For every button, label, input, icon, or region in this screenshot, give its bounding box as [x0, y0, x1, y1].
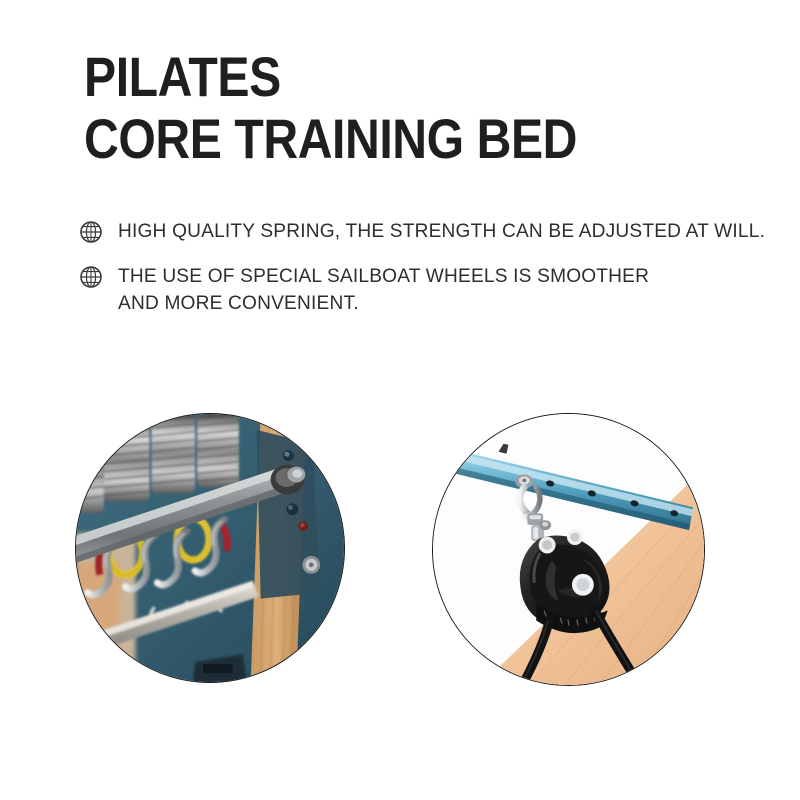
title-line-1: PILATES: [84, 46, 634, 108]
product-feature-page: PILATES CORE TRAINING BED HIGH QUALITY S…: [0, 0, 800, 800]
list-item: THE USE OF SPECIAL SAILBOAT WHEELS IS SM…: [78, 263, 758, 317]
feature-text: THE USE OF SPECIAL SAILBOAT WHEELS IS SM…: [118, 263, 649, 317]
feature-text: HIGH QUALITY SPRING, THE STRENGTH CAN BE…: [118, 218, 765, 245]
list-item: HIGH QUALITY SPRING, THE STRENGTH CAN BE…: [78, 218, 758, 245]
sailboat-pulley-illustration: [433, 414, 704, 685]
spring-and-hooks-photo: [75, 413, 345, 683]
sailboat-pulley-photo: [432, 413, 705, 686]
globe-icon: [78, 219, 104, 245]
page-title: PILATES CORE TRAINING BED: [84, 46, 724, 170]
feature-list: HIGH QUALITY SPRING, THE STRENGTH CAN BE…: [78, 218, 758, 335]
feature-text-line: THE USE OF SPECIAL SAILBOAT WHEELS IS SM…: [118, 263, 649, 290]
globe-icon: [78, 264, 104, 290]
feature-text-line: AND MORE CONVENIENT.: [118, 290, 649, 317]
spring-and-hooks-illustration: [76, 414, 344, 682]
title-line-2: CORE TRAINING BED: [84, 108, 634, 170]
feature-text-line: HIGH QUALITY SPRING, THE STRENGTH CAN BE…: [118, 218, 765, 245]
